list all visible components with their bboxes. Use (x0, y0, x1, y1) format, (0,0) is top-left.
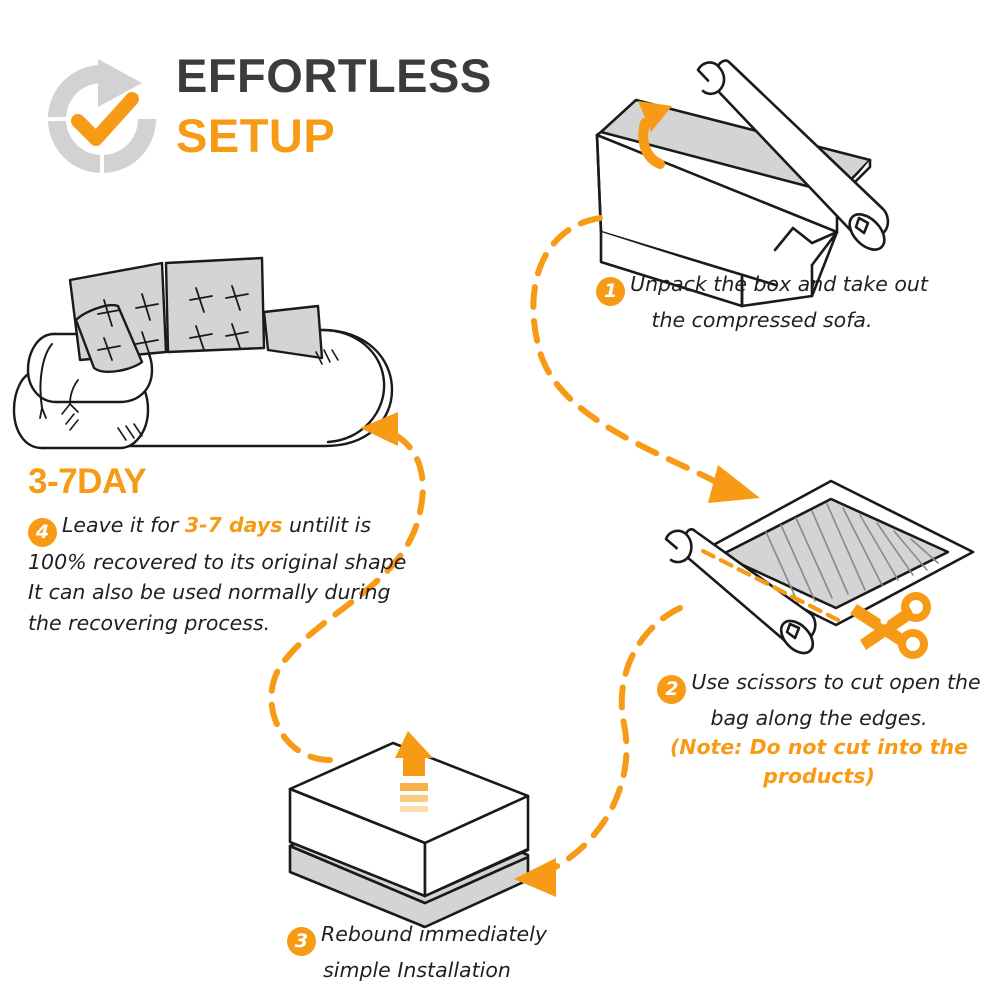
step-1-badge: 1 (596, 277, 625, 306)
step-4-text-before: Leave it for (62, 513, 185, 537)
duration-label: 3-7DAY (28, 462, 424, 502)
page-title-secondary: SETUP (176, 112, 536, 159)
step-4-badge: 4 (28, 518, 57, 547)
step2-illustration (666, 481, 973, 659)
step-3-badge: 3 (287, 927, 316, 956)
step-2-badge: 2 (657, 675, 686, 704)
refresh-check-icon (38, 55, 166, 183)
step-4-text-highlight: 3-7 days (185, 513, 283, 537)
step-4-block: 3-7DAY 4Leave it for 3-7 days untilit is… (24, 462, 424, 638)
header: EFFORTLESS SETUP (38, 52, 518, 187)
step-1-caption: 1Unpack the box and take out the compres… (592, 270, 932, 335)
step-3-caption: 3Rebound immediately simple Installation (272, 920, 562, 985)
step-2-text-line2: the edges. (819, 706, 928, 730)
step-2-note: (Note: Do not cut into the products) (648, 733, 990, 791)
step-3-text-line2: Installation (397, 958, 511, 982)
step-1-text: Unpack the box and take out the compress… (630, 272, 928, 332)
step-4-caption: 4Leave it for 3-7 days untilit is 100% r… (24, 510, 424, 638)
page-title-primary: EFFORTLESS (176, 52, 536, 99)
step-2-caption: 2Use scissors to cut open the bag along … (648, 668, 990, 791)
sofa-illustration (14, 258, 392, 448)
title-wrap: EFFORTLESS SETUP (176, 52, 536, 159)
infographic-page: EFFORTLESS SETUP 1Unpack the box and tak… (0, 0, 1000, 1000)
